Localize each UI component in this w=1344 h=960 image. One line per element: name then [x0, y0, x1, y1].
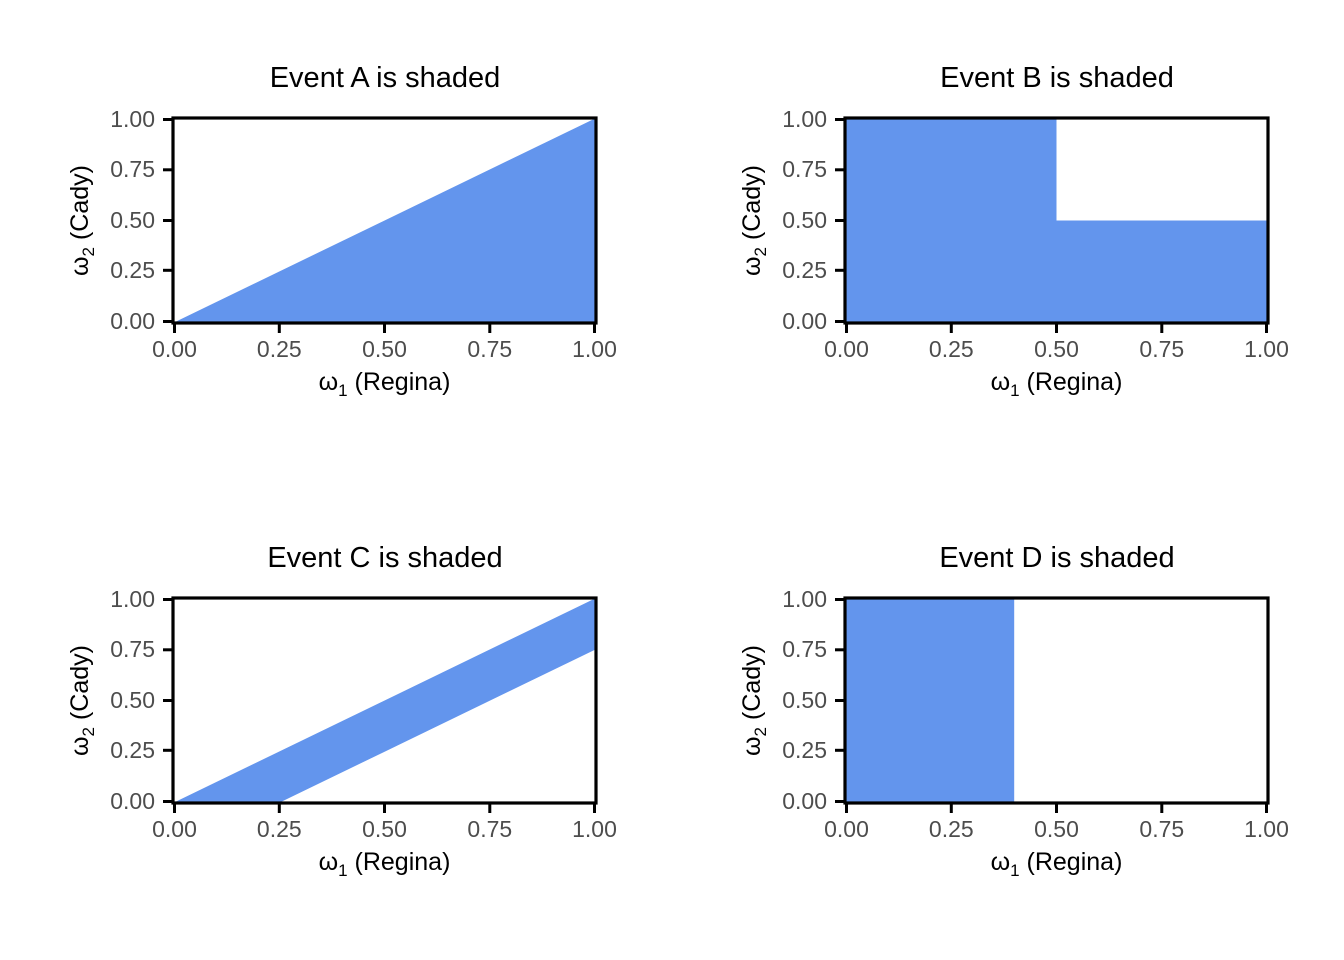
panel-c-y-axis-label: ω2 (Cady): [66, 645, 98, 756]
panel-c-x-tick-labels: 0.00 0.25 0.50 0.75 1.00: [152, 816, 617, 842]
panel-d-plot: 0.00 0.25 0.50 0.75 1.00 0.00 0.25 0.50 …: [672, 480, 1344, 960]
panel-b-y-tick-0: 0.00: [782, 308, 827, 334]
panel-a-y-tick-0: 0.00: [110, 308, 155, 334]
panel-event-a: Event A is shaded 0.00 0.25 0.5: [0, 0, 672, 480]
panel-b-y-tick-4: 1.00: [782, 106, 827, 132]
panel-b-y-tick-labels: 0.00 0.25 0.50 0.75 1.00: [782, 106, 827, 334]
panel-d-x-tick-0: 0.00: [824, 816, 869, 842]
panel-d-shaded-region: [845, 598, 1014, 803]
panel-a-x-tick-4: 1.00: [572, 336, 617, 362]
panel-event-b: Event B is shaded 0.00 0.25 0.50 0.: [672, 0, 1344, 480]
panel-c-x-tick-1: 0.25: [257, 816, 302, 842]
panel-d-x-tick-1: 0.25: [929, 816, 974, 842]
panel-event-d: Event D is shaded 0.00 0.25 0.50 0.75: [672, 480, 1344, 960]
panel-c-x-tick-2: 0.50: [362, 816, 407, 842]
panel-d-x-axis-label: ω1 (Regina): [991, 848, 1123, 880]
panel-b-x-tick-0: 0.00: [824, 336, 869, 362]
panel-d-y-tick-labels: 0.00 0.25 0.50 0.75 1.00: [782, 586, 827, 814]
panel-a-y-tick-2: 0.50: [110, 207, 155, 233]
panel-b-y-tick-3: 0.75: [782, 156, 827, 182]
panel-a-y-tick-labels: 0.00 0.25 0.50 0.75 1.00: [110, 106, 155, 334]
panel-c-y-tick-0: 0.00: [110, 788, 155, 814]
panel-d-x-tick-labels: 0.00 0.25 0.50 0.75 1.00: [824, 816, 1289, 842]
panel-d-x-tick-4: 1.00: [1244, 816, 1289, 842]
panel-a-x-tick-labels: 0.00 0.25 0.50 0.75 1.00: [152, 336, 617, 362]
panel-b-plot: 0.00 0.25 0.50 0.75 1.00 0.00 0.25 0.50 …: [672, 0, 1344, 480]
panel-d-x-tick-3: 0.75: [1139, 816, 1184, 842]
panel-a-x-tick-1: 0.25: [257, 336, 302, 362]
panel-b-x-tick-1: 0.25: [929, 336, 974, 362]
panel-d-y-tick-4: 1.00: [782, 586, 827, 612]
panel-c-plot: 0.00 0.25 0.50 0.75 1.00 0.00 0.25 0.50 …: [0, 480, 672, 960]
panel-c-x-axis-label: ω1 (Regina): [319, 848, 451, 880]
panel-b-x-tick-3: 0.75: [1139, 336, 1184, 362]
panel-c-y-tick-labels: 0.00 0.25 0.50 0.75 1.00: [110, 586, 155, 814]
panel-a-y-tick-3: 0.75: [110, 156, 155, 182]
panel-d-y-tick-0: 0.00: [782, 788, 827, 814]
figure-panel-grid: Event A is shaded 0.00 0.25 0.5: [0, 0, 1344, 960]
panel-c-y-tick-4: 1.00: [110, 586, 155, 612]
panel-a-y-tick-1: 0.25: [110, 257, 155, 283]
panel-c-x-tick-3: 0.75: [467, 816, 512, 842]
panel-c-x-tick-4: 1.00: [572, 816, 617, 842]
panel-b-x-axis-label: ω1 (Regina): [991, 368, 1123, 400]
panel-b-x-tick-labels: 0.00 0.25 0.50 0.75 1.00: [824, 336, 1289, 362]
panel-d-y-tick-3: 0.75: [782, 636, 827, 662]
panel-event-c: Event C is shaded 0.00 0.25 0.50 0.75: [0, 480, 672, 960]
panel-c-y-tick-3: 0.75: [110, 636, 155, 662]
panel-a-x-tick-3: 0.75: [467, 336, 512, 362]
panel-d-x-tick-2: 0.50: [1034, 816, 1079, 842]
panel-a-y-axis-label: ω2 (Cady): [66, 165, 98, 276]
panel-b-y-tick-1: 0.25: [782, 257, 827, 283]
panel-a-x-axis-label: ω1 (Regina): [319, 368, 451, 400]
panel-b-x-tick-4: 1.00: [1244, 336, 1289, 362]
panel-d-y-tick-2: 0.50: [782, 687, 827, 713]
panel-a-y-tick-4: 1.00: [110, 106, 155, 132]
panel-b-y-tick-2: 0.50: [782, 207, 827, 233]
panel-c-y-tick-1: 0.25: [110, 737, 155, 763]
panel-a-x-tick-0: 0.00: [152, 336, 197, 362]
panel-a-x-tick-2: 0.50: [362, 336, 407, 362]
panel-c-shaded-region: [173, 598, 596, 803]
panel-a-shaded-region: [173, 118, 596, 323]
panel-c-x-tick-0: 0.00: [152, 816, 197, 842]
panel-d-y-axis-label: ω2 (Cady): [738, 645, 770, 756]
panel-b-y-axis-label: ω2 (Cady): [738, 165, 770, 276]
panel-c-y-tick-2: 0.50: [110, 687, 155, 713]
panel-d-y-tick-1: 0.25: [782, 737, 827, 763]
panel-b-x-tick-2: 0.50: [1034, 336, 1079, 362]
panel-b-shaded-region: [845, 118, 1268, 323]
panel-a-plot: 0.00 0.25 0.50 0.75 1.00 0.00 0.25 0.50 …: [0, 0, 672, 480]
